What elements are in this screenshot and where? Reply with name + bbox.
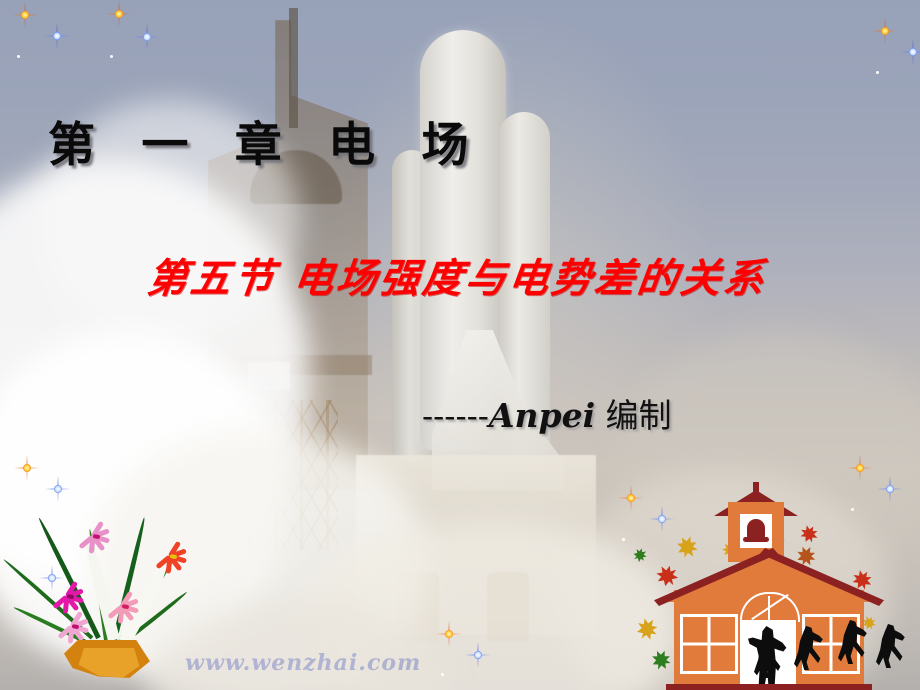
- section-title: 第五节 电场强度与电势差的关系: [144, 246, 770, 304]
- sparkle-dot: [18, 508, 21, 511]
- bell-icon: [747, 519, 765, 539]
- presentation-slide: 第 一 章 电 场 第五节 电场强度与电势差的关系 ------Anpei 编制…: [0, 0, 920, 690]
- school-window-left: [680, 614, 738, 674]
- school-foundation: [666, 684, 872, 690]
- author-suffix: 编制: [606, 396, 672, 435]
- author-dashes: ------: [422, 396, 489, 435]
- bell-lip: [743, 537, 769, 542]
- watermark-url: www.wenzhai.com: [185, 650, 421, 676]
- sparkle-dot: [441, 673, 444, 676]
- schoolhouse-clipart: [636, 492, 920, 690]
- sparkle-dot: [110, 55, 113, 58]
- sparkle-dot: [622, 538, 625, 541]
- author-credit: ------Anpei 编制: [422, 389, 672, 437]
- author-name: Anpei: [489, 396, 595, 435]
- chapter-title: 第 一 章 电 场: [48, 106, 483, 175]
- sparkle-dot: [17, 55, 20, 58]
- sparkle-dot: [876, 71, 879, 74]
- running-child-4: [876, 624, 906, 668]
